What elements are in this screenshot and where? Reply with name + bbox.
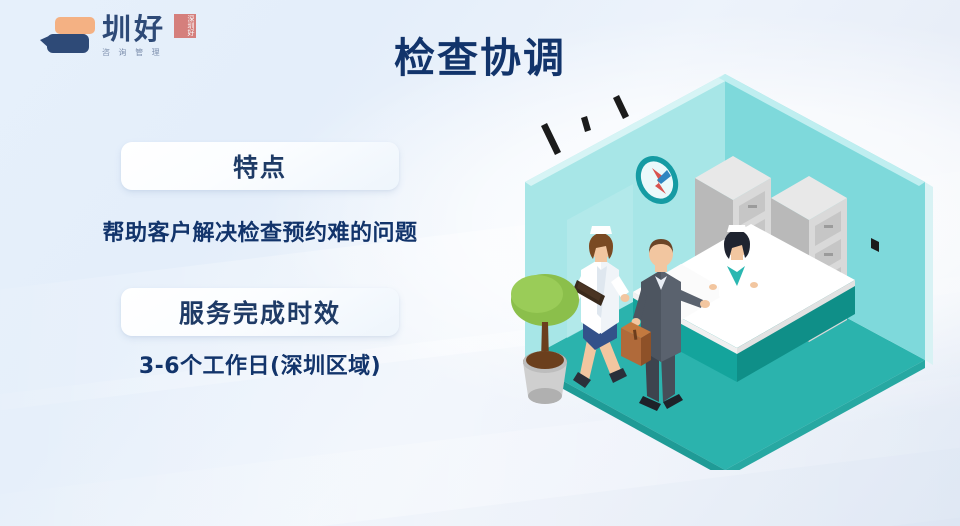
feature-description: 帮助客户解决检查预约难的问题 bbox=[100, 215, 420, 247]
section-pill-sla: 服务完成时效 bbox=[121, 288, 399, 336]
sla-description: 3-6个工作日(深圳区域) bbox=[121, 348, 399, 380]
wall-right-outer-edge bbox=[925, 182, 933, 365]
hospital-reception-illustration bbox=[505, 70, 945, 470]
section-pill-feature-label: 特点 bbox=[233, 148, 287, 184]
slide-canvas: 圳好 深圳好 咨 询 管 理 检查协调 特点 帮助客户解决检查预约难的问题 服务… bbox=[0, 0, 960, 526]
section-pill-sla-label: 服务完成时效 bbox=[179, 294, 341, 330]
section-pill-feature: 特点 bbox=[121, 142, 399, 190]
